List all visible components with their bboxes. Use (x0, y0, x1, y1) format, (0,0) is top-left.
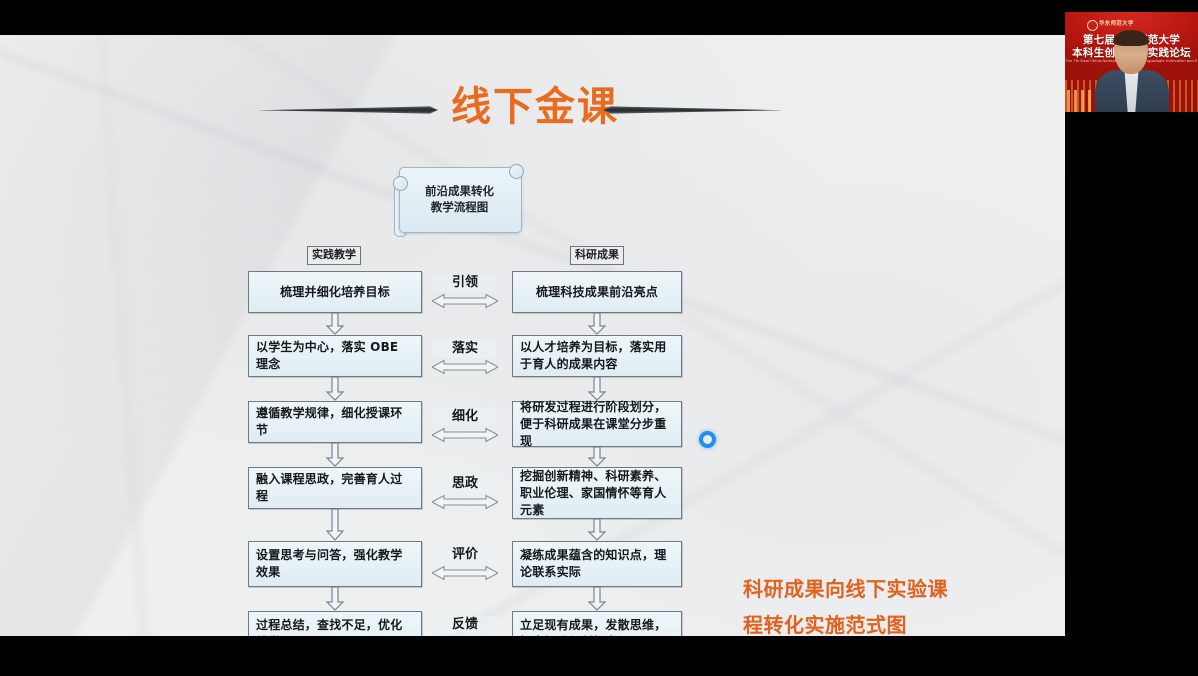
title-rule-left-icon (258, 105, 438, 115)
down-arrow-left-2-icon (325, 377, 345, 401)
mid-label-3: 细化 (433, 408, 497, 426)
cursor-ring-icon (699, 431, 716, 448)
letterbox-top (0, 0, 1065, 35)
mid-label-5: 评价 (433, 546, 497, 564)
scroll-banner-line2: 教学流程图 (431, 199, 489, 215)
down-arrow-right-2-icon (587, 377, 607, 401)
down-arrow-left-4-icon (325, 509, 345, 541)
bi-arrow-1-icon (432, 293, 498, 309)
down-arrow-left-3-icon (325, 443, 345, 467)
video-participant-tile[interactable]: 华东师范大学 第七届华东师范大学 本科生创新创新实践论坛 The 7th Eas… (1065, 0, 1198, 122)
video-feed: 华东师范大学 第七届华东师范大学 本科生创新创新实践论坛 The 7th Eas… (1065, 12, 1198, 112)
flow-box-left-2[interactable]: 以学生为中心，落实 OBE 理念 (248, 335, 422, 377)
flow-box-left-4[interactable]: 融入课程思政，完善育人过程 (248, 467, 422, 509)
flow-box-right-3[interactable]: 将研发过程进行阶段划分，便于科研成果在课堂分步重现 (512, 401, 682, 447)
scroll-curl-right-icon (509, 164, 524, 179)
screen-root: 线下金课 前沿成果转化 教学流程图 实践教学 科研成果 梳理并细化培养目标 (0, 0, 1198, 676)
bi-arrow-4-icon (432, 494, 498, 510)
flow-box-right-5[interactable]: 凝练成果蕴含的知识点，理论联系实际 (512, 541, 682, 587)
scroll-banner-text: 前沿成果转化 教学流程图 (399, 167, 520, 231)
flow-box-right-2[interactable]: 以人才培养为目标，落实用于育人的成果内容 (512, 335, 682, 377)
letterbox-right (1065, 122, 1198, 676)
mid-label-2: 落实 (433, 340, 497, 358)
scroll-banner-line1: 前沿成果转化 (425, 183, 494, 199)
flow-box-left-5[interactable]: 设置思考与问答，强化教学效果 (248, 541, 422, 587)
mid-label-1: 引领 (433, 274, 497, 292)
bi-arrow-3-icon (432, 427, 498, 443)
flow-box-left-1[interactable]: 梳理并细化培养目标 (248, 271, 422, 313)
mid-label-6: 反馈 (433, 616, 497, 634)
slide-caption: 科研成果向线下实验课 程转化实施范式图 (743, 571, 1043, 643)
flow-box-right-4[interactable]: 挖掘创新精神、科研素养、职业伦理、家国情怀等育人元素 (512, 467, 682, 519)
down-arrow-right-5-icon (587, 587, 607, 611)
slide-caption-line1: 科研成果向线下实验课 (743, 571, 1043, 607)
video-banner-org: 华东师范大学 (1099, 19, 1134, 29)
title-rule-right-icon (603, 105, 783, 115)
presentation-slide: 线下金课 前沿成果转化 教学流程图 实践教学 科研成果 梳理并细化培养目标 (0, 35, 1065, 636)
down-arrow-left-5-icon (325, 587, 345, 611)
flow-box-right-1[interactable]: 梳理科技成果前沿亮点 (512, 271, 682, 313)
scroll-curl-left-icon (393, 176, 408, 191)
flow-box-left-3[interactable]: 遵循教学规律，细化授课环节 (248, 401, 422, 443)
down-arrow-right-3-icon (587, 447, 607, 467)
down-arrow-left-1-icon (325, 313, 345, 335)
bi-arrow-5-icon (432, 565, 498, 581)
university-emblem-icon (1087, 20, 1098, 31)
letterbox-bottom (0, 636, 1198, 676)
down-arrow-right-4-icon (587, 519, 607, 541)
mid-label-4: 思政 (433, 475, 497, 493)
bi-arrow-2-icon (432, 359, 498, 375)
slide-title-row: 线下金课 (0, 77, 1065, 139)
scroll-banner: 前沿成果转化 教学流程图 (391, 163, 528, 235)
column-tag-research-results: 科研成果 (570, 246, 624, 265)
down-arrow-right-1-icon (587, 313, 607, 335)
column-tag-practice-teaching: 实践教学 (307, 246, 361, 265)
